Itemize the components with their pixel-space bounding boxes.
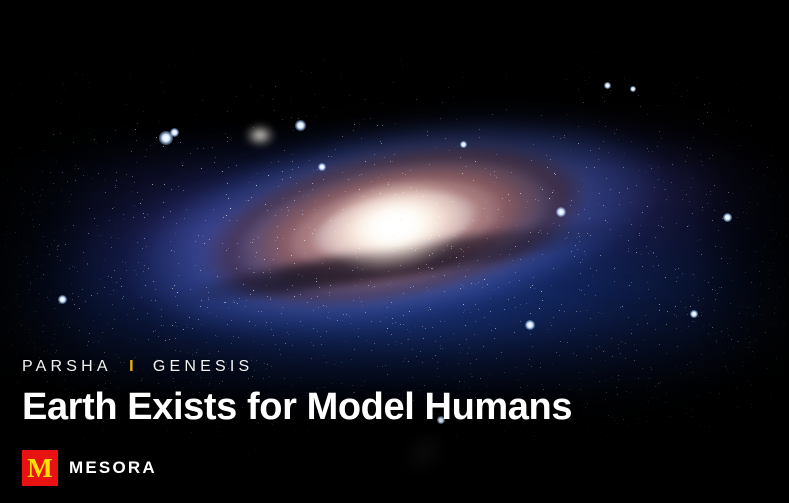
mesora-logo-mark: M bbox=[22, 450, 58, 486]
vignette-top-icon bbox=[0, 0, 789, 171]
bright-star-icon bbox=[58, 295, 67, 304]
bright-star-icon bbox=[159, 131, 173, 145]
bright-star-icon bbox=[723, 213, 732, 222]
bright-star-icon bbox=[690, 310, 698, 318]
parsha-kicker: PARSHA I GENESIS bbox=[22, 358, 253, 376]
parsha-banner: PARSHA I GENESIS Earth Exists for Model … bbox=[0, 0, 789, 503]
bright-star-icon bbox=[295, 120, 306, 131]
mesora-logo-text: MESORA bbox=[69, 458, 157, 478]
mesora-logo[interactable]: M MESORA bbox=[22, 450, 157, 486]
bright-star-icon bbox=[556, 207, 566, 217]
kicker-book-label: GENESIS bbox=[153, 358, 254, 375]
bright-star-icon bbox=[604, 82, 611, 89]
bright-star-icon bbox=[525, 320, 535, 330]
bright-star-icon bbox=[460, 141, 467, 148]
kicker-series-label: PARSHA bbox=[22, 358, 112, 375]
page-title: Earth Exists for Model Humans bbox=[22, 386, 572, 429]
bright-star-icon bbox=[630, 86, 636, 92]
bright-star-icon bbox=[318, 163, 326, 171]
